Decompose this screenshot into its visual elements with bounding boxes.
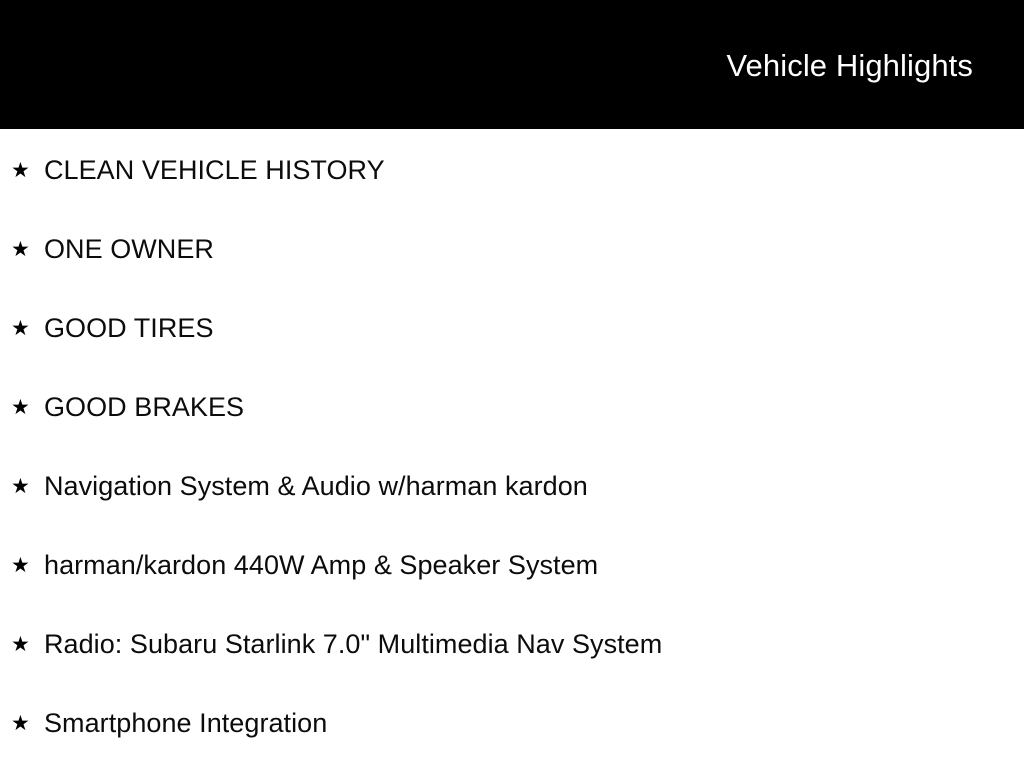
- star-icon: ★: [11, 447, 33, 526]
- highlight-label: Radio: Subaru Starlink 7.0" Multimedia N…: [44, 605, 662, 684]
- star-icon: ★: [11, 289, 33, 368]
- header-band: Vehicle Highlights: [0, 0, 1024, 129]
- page-title: Vehicle Highlights: [726, 48, 973, 84]
- highlight-label: GOOD BRAKES: [44, 368, 244, 447]
- list-item: ★ GOOD TIRES: [0, 289, 1024, 368]
- vehicle-highlights-list: ★ CLEAN VEHICLE HISTORY ★ ONE OWNER ★ GO…: [0, 129, 1024, 763]
- highlight-label: CLEAN VEHICLE HISTORY: [44, 131, 385, 210]
- list-item: ★ GOOD BRAKES: [0, 368, 1024, 447]
- highlight-label: Navigation System & Audio w/harman kardo…: [44, 447, 588, 526]
- list-item: ★ ONE OWNER: [0, 210, 1024, 289]
- star-icon: ★: [11, 210, 33, 289]
- star-icon: ★: [11, 605, 33, 684]
- list-item: ★ Radio: Subaru Starlink 7.0" Multimedia…: [0, 605, 1024, 684]
- highlight-label: GOOD TIRES: [44, 289, 214, 368]
- highlight-label: harman/kardon 440W Amp & Speaker System: [44, 526, 598, 605]
- list-item: ★ CLEAN VEHICLE HISTORY: [0, 131, 1024, 210]
- star-icon: ★: [11, 131, 33, 210]
- list-item: ★ harman/kardon 440W Amp & Speaker Syste…: [0, 526, 1024, 605]
- star-icon: ★: [11, 526, 33, 605]
- star-icon: ★: [11, 368, 33, 447]
- highlight-label: Smartphone Integration: [44, 684, 327, 763]
- list-item: ★ Smartphone Integration: [0, 684, 1024, 763]
- star-icon: ★: [11, 684, 33, 763]
- vehicle-highlights-page: Vehicle Highlights ★ CLEAN VEHICLE HISTO…: [0, 0, 1024, 768]
- list-item: ★ Navigation System & Audio w/harman kar…: [0, 447, 1024, 526]
- highlight-label: ONE OWNER: [44, 210, 214, 289]
